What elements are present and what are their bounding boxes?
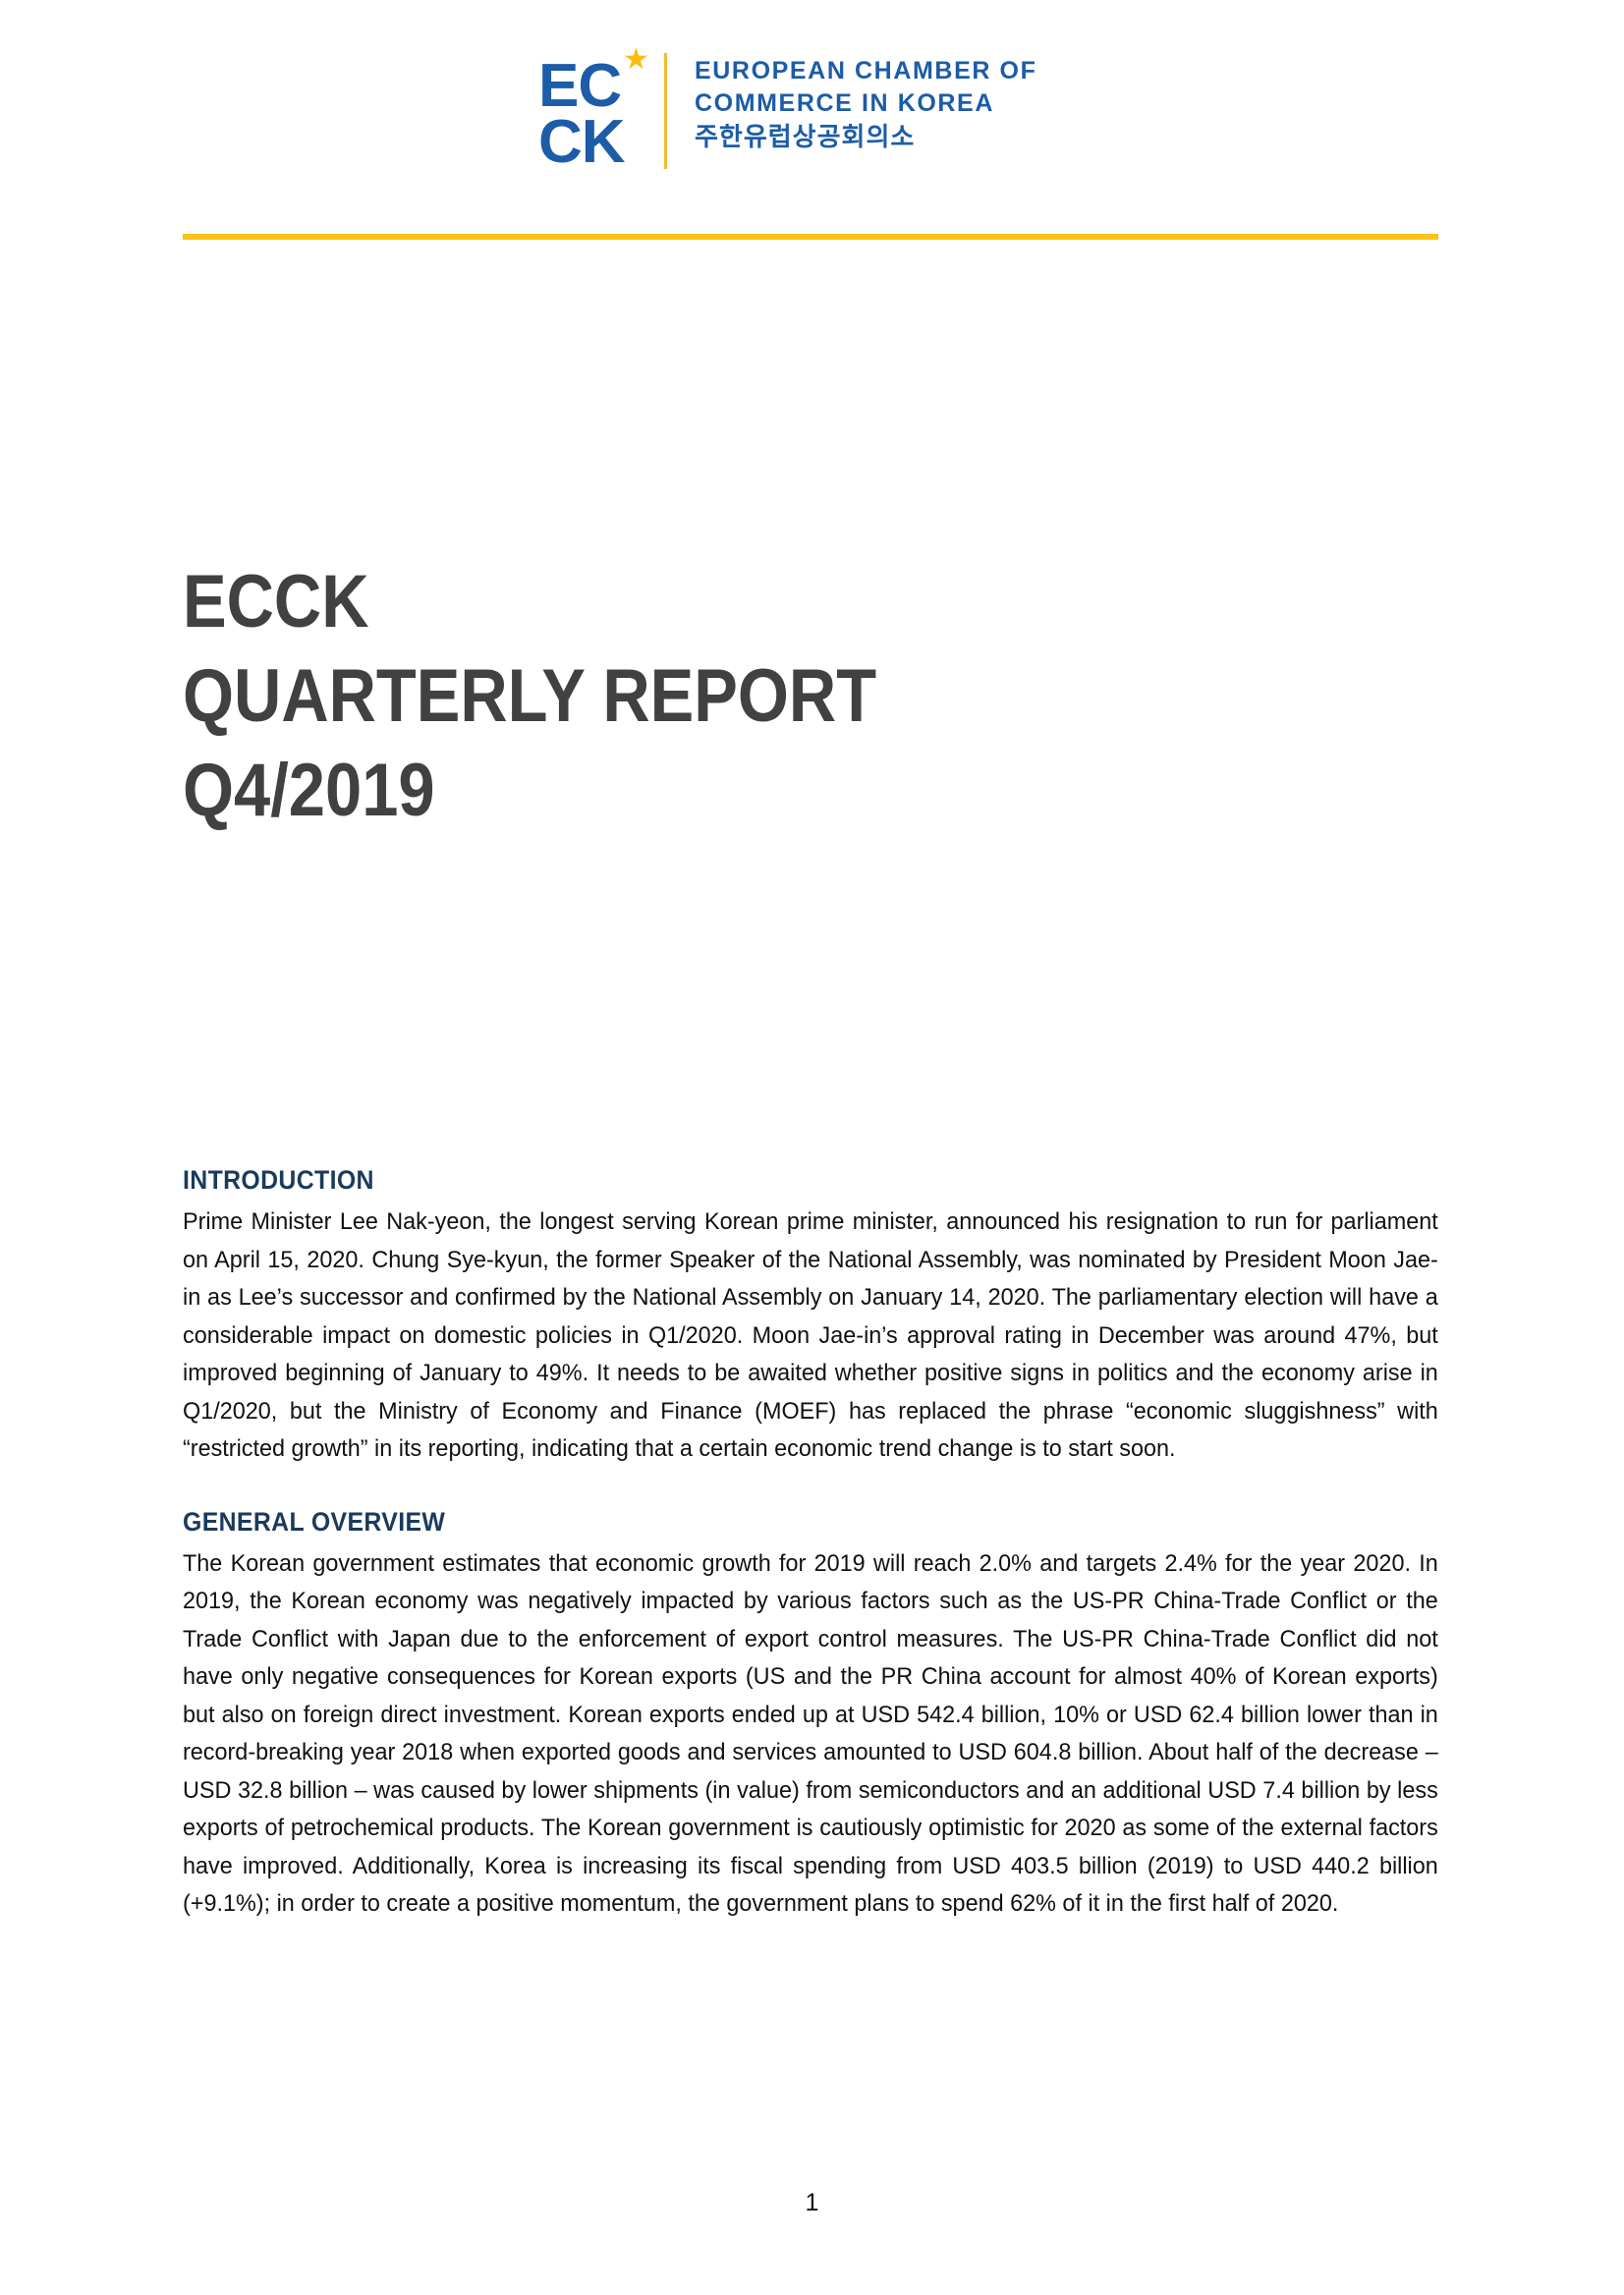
section-body-introduction: Prime Minister Lee Nak-yeon, the longest… — [183, 1203, 1438, 1469]
section-heading-introduction: INTRODUCTION — [183, 1162, 1338, 1198]
page-title-line-2: QUARTERLY REPORT — [183, 649, 1289, 744]
star-icon: ★ — [623, 47, 648, 73]
logo-name-korean: 주한유럽상공회의소 — [695, 120, 1036, 155]
document-body: INTRODUCTION Prime Minister Lee Nak-yeon… — [183, 1162, 1438, 1924]
page-title-line-1: ECCK — [183, 555, 1289, 649]
section-body-general-overview: The Korean government estimates that eco… — [183, 1545, 1438, 1924]
document-page: EC CK ★ EUROPEAN CHAMBER OF COMMERCE IN … — [0, 0, 1624, 2295]
page-footer: 1 — [0, 2189, 1624, 2217]
section-introduction: INTRODUCTION Prime Minister Lee Nak-yeon… — [183, 1162, 1438, 1469]
logo-mark-line-ck: CK — [538, 113, 625, 172]
logo-mark-line-ec: EC — [538, 57, 621, 116]
ecck-logo: EC CK ★ EUROPEAN CHAMBER OF COMMERCE IN … — [538, 47, 1036, 175]
page-number: 1 — [806, 2189, 819, 2216]
header-gold-rule — [183, 234, 1438, 240]
page-header: EC CK ★ EUROPEAN CHAMBER OF COMMERCE IN … — [0, 0, 1624, 246]
section-heading-general-overview: GENERAL OVERVIEW — [183, 1504, 1338, 1539]
page-title: ECCK QUARTERLY REPORT Q4/2019 — [183, 555, 1440, 838]
section-spacer — [183, 1469, 1438, 1504]
page-title-line-3: Q4/2019 — [183, 744, 1289, 838]
ecck-logo-wordmark: EUROPEAN CHAMBER OF COMMERCE IN KOREA 주한… — [695, 47, 1036, 155]
logo-divider — [664, 53, 667, 169]
logo-name-line-1: EUROPEAN CHAMBER OF — [695, 55, 1036, 87]
logo-name-line-2: COMMERCE IN KOREA — [695, 87, 1036, 120]
ecck-logo-mark: EC CK ★ — [538, 47, 646, 175]
section-general-overview: GENERAL OVERVIEW The Korean government e… — [183, 1504, 1438, 1924]
